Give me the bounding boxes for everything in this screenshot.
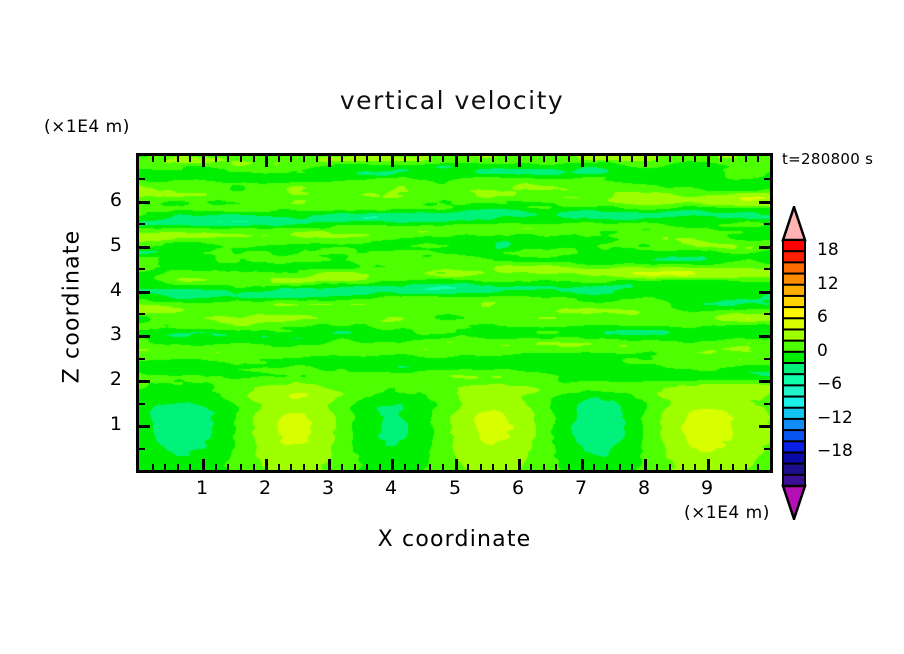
colorbar-over-arrow <box>783 207 805 240</box>
x-minor-tick-top <box>568 156 570 162</box>
x-minor-tick <box>354 464 356 470</box>
x-minor-tick <box>555 464 557 470</box>
colorbar-tick-label-6: 6 <box>817 307 828 327</box>
colorbar-band <box>783 363 805 375</box>
x-minor-tick <box>379 464 381 470</box>
y-major-tick <box>139 201 150 204</box>
y-minor-tick <box>139 403 145 405</box>
x-minor-tick-top <box>278 156 280 162</box>
x-minor-tick <box>619 464 621 470</box>
x-minor-tick <box>467 464 469 470</box>
colorbar <box>779 206 809 520</box>
x-major-tick-top <box>518 156 521 167</box>
y-major-tick-right <box>759 246 770 249</box>
colorbar-tick-label-neg12: −12 <box>817 408 853 428</box>
colorbar-band <box>783 452 805 464</box>
x-minor-tick <box>316 464 318 470</box>
x-minor-tick <box>417 464 419 470</box>
colorbar-swatches <box>779 206 809 520</box>
x-minor-tick <box>442 464 444 470</box>
x-minor-tick <box>745 464 747 470</box>
x-minor-tick <box>720 464 722 470</box>
x-minor-tick-top <box>619 156 621 162</box>
x-minor-tick-top <box>606 156 608 162</box>
x-minor-tick-top <box>555 156 557 162</box>
y-major-tick-right <box>759 335 770 338</box>
vertical-velocity-field <box>139 156 770 470</box>
x-major-tick-top <box>265 156 268 167</box>
x-minor-tick-top <box>152 156 154 162</box>
y-tick-label-1: 1 <box>96 413 122 435</box>
x-minor-tick-top <box>745 156 747 162</box>
y-major-tick-right <box>759 380 770 383</box>
colorbar-band <box>783 430 805 442</box>
colorbar-band <box>783 374 805 386</box>
x-minor-tick <box>152 464 154 470</box>
colorbar-band <box>783 341 805 353</box>
x-minor-tick-top <box>480 156 482 162</box>
colorbar-band <box>783 262 805 274</box>
colorbar-band <box>783 251 805 263</box>
colorbar-band <box>783 408 805 420</box>
y-tick-label-4: 4 <box>96 279 122 301</box>
x-minor-tick <box>669 464 671 470</box>
colorbar-tick-label-neg18: −18 <box>817 441 853 461</box>
x-minor-tick <box>164 464 166 470</box>
x-minor-tick-top <box>505 156 507 162</box>
y-minor-tick-right <box>764 178 770 180</box>
x-minor-tick-top <box>669 156 671 162</box>
x-tick-label-7: 7 <box>566 477 596 499</box>
x-major-tick-top <box>581 156 584 167</box>
x-major-tick <box>455 459 458 470</box>
x-minor-tick-top <box>720 156 722 162</box>
y-major-tick-right <box>759 291 770 294</box>
x-minor-tick-top <box>341 156 343 162</box>
y-tick-label-5: 5 <box>96 234 122 256</box>
y-minor-tick <box>139 313 145 315</box>
x-minor-tick-top <box>417 156 419 162</box>
y-major-tick <box>139 246 150 249</box>
x-minor-tick <box>682 464 684 470</box>
x-major-tick-top <box>391 156 394 167</box>
y-minor-tick-right <box>764 358 770 360</box>
x-major-tick-top <box>644 156 647 167</box>
x-tick-label-2: 2 <box>250 477 280 499</box>
x-minor-tick-top <box>732 156 734 162</box>
x-minor-tick-top <box>366 156 368 162</box>
x-major-tick-top <box>202 156 205 167</box>
colorbar-band <box>783 296 805 308</box>
colorbar-band <box>783 441 805 453</box>
x-major-tick-top <box>707 156 710 167</box>
x-minor-tick <box>429 464 431 470</box>
y-major-tick <box>139 291 150 294</box>
colorbar-band <box>783 307 805 319</box>
time-stamp-label: t=280800 s <box>782 150 873 168</box>
x-minor-tick <box>303 464 305 470</box>
x-minor-tick-top <box>303 156 305 162</box>
y-axis-unit-label: (×1E4 m) <box>44 117 130 137</box>
x-major-tick <box>644 459 647 470</box>
y-minor-tick-right <box>764 403 770 405</box>
x-axis-title: X coordinate <box>136 527 773 552</box>
colorbar-band <box>783 464 805 476</box>
x-major-tick <box>518 459 521 470</box>
y-tick-label-3: 3 <box>96 323 122 345</box>
colorbar-under-arrow <box>783 486 805 519</box>
x-minor-tick-top <box>164 156 166 162</box>
x-minor-tick-top <box>189 156 191 162</box>
x-major-tick <box>581 459 584 470</box>
x-minor-tick <box>505 464 507 470</box>
x-minor-tick-top <box>316 156 318 162</box>
x-minor-tick <box>480 464 482 470</box>
colorbar-band <box>783 397 805 409</box>
x-minor-tick <box>568 464 570 470</box>
y-major-tick-right <box>759 201 770 204</box>
y-minor-tick <box>139 223 145 225</box>
x-minor-tick <box>732 464 734 470</box>
x-minor-tick-top <box>379 156 381 162</box>
x-minor-tick-top <box>404 156 406 162</box>
x-tick-label-1: 1 <box>187 477 217 499</box>
x-minor-tick-top <box>467 156 469 162</box>
colorbar-band <box>783 352 805 364</box>
x-minor-tick <box>757 464 759 470</box>
colorbar-band <box>783 285 805 297</box>
x-minor-tick-top <box>694 156 696 162</box>
colorbar-band <box>783 329 805 341</box>
x-major-tick-top <box>328 156 331 167</box>
x-tick-label-5: 5 <box>440 477 470 499</box>
x-minor-tick-top <box>492 156 494 162</box>
x-minor-tick-top <box>429 156 431 162</box>
y-major-tick <box>139 380 150 383</box>
x-minor-tick-top <box>442 156 444 162</box>
x-minor-tick-top <box>656 156 658 162</box>
x-major-tick <box>707 459 710 470</box>
colorbar-band <box>783 385 805 397</box>
x-minor-tick <box>404 464 406 470</box>
x-minor-tick <box>492 464 494 470</box>
y-major-tick-right <box>759 425 770 428</box>
contour-plot-area <box>136 153 773 473</box>
x-minor-tick <box>543 464 545 470</box>
x-axis-unit-label: (×1E4 m) <box>684 503 770 523</box>
x-minor-tick <box>656 464 658 470</box>
y-minor-tick-right <box>764 448 770 450</box>
y-minor-tick-right <box>764 268 770 270</box>
x-minor-tick <box>606 464 608 470</box>
x-minor-tick <box>240 464 242 470</box>
y-minor-tick <box>139 358 145 360</box>
x-minor-tick <box>694 464 696 470</box>
y-minor-tick <box>139 448 145 450</box>
colorbar-band <box>783 419 805 431</box>
x-minor-tick <box>189 464 191 470</box>
x-tick-label-8: 8 <box>629 477 659 499</box>
x-minor-tick-top <box>354 156 356 162</box>
colorbar-band <box>783 318 805 330</box>
y-tick-label-2: 2 <box>96 368 122 390</box>
x-major-tick <box>391 459 394 470</box>
x-minor-tick <box>278 464 280 470</box>
x-minor-tick <box>177 464 179 470</box>
y-minor-tick-right <box>764 223 770 225</box>
y-axis-title: Z coordinate <box>60 207 85 407</box>
x-minor-tick <box>341 464 343 470</box>
x-minor-tick-top <box>177 156 179 162</box>
y-minor-tick <box>139 178 145 180</box>
x-minor-tick-top <box>227 156 229 162</box>
x-minor-tick-top <box>631 156 633 162</box>
colorbar-tick-label-neg6: −6 <box>817 374 842 394</box>
x-major-tick <box>328 459 331 470</box>
x-tick-label-3: 3 <box>313 477 343 499</box>
x-tick-label-6: 6 <box>503 477 533 499</box>
x-minor-tick-top <box>215 156 217 162</box>
colorbar-tick-label-12: 12 <box>817 274 839 294</box>
x-minor-tick-top <box>290 156 292 162</box>
x-tick-label-9: 9 <box>692 477 722 499</box>
y-minor-tick-right <box>764 313 770 315</box>
x-major-tick <box>202 459 205 470</box>
x-minor-tick <box>366 464 368 470</box>
page-title: vertical velocity <box>0 86 904 115</box>
x-minor-tick <box>215 464 217 470</box>
x-minor-tick <box>631 464 633 470</box>
x-tick-label-4: 4 <box>376 477 406 499</box>
x-minor-tick <box>253 464 255 470</box>
x-minor-tick-top <box>543 156 545 162</box>
colorbar-band <box>783 240 805 252</box>
x-minor-tick <box>593 464 595 470</box>
x-major-tick <box>265 459 268 470</box>
y-minor-tick <box>139 268 145 270</box>
x-minor-tick-top <box>593 156 595 162</box>
colorbar-tick-label-18: 18 <box>817 240 839 260</box>
x-minor-tick <box>530 464 532 470</box>
x-minor-tick <box>227 464 229 470</box>
colorbar-tick-label-0: 0 <box>817 341 828 361</box>
x-minor-tick-top <box>530 156 532 162</box>
x-major-tick-top <box>455 156 458 167</box>
y-major-tick <box>139 335 150 338</box>
x-minor-tick-top <box>682 156 684 162</box>
y-major-tick <box>139 425 150 428</box>
y-tick-label-6: 6 <box>96 189 122 211</box>
x-minor-tick <box>290 464 292 470</box>
x-minor-tick-top <box>253 156 255 162</box>
x-minor-tick-top <box>757 156 759 162</box>
colorbar-band <box>783 274 805 286</box>
x-minor-tick-top <box>240 156 242 162</box>
